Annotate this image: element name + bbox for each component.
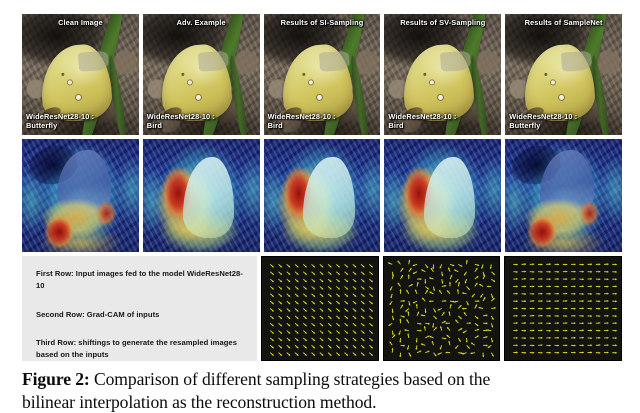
legend-row1-note: First Row: Input images fed to the model… — [36, 268, 247, 292]
quiver-panel-samplenet — [504, 256, 622, 361]
figure-page: 0 – , e – – e – s e – – – r e — [0, 0, 640, 413]
quiver-arrows-uniform — [262, 257, 378, 360]
gradcam-heatmap — [22, 139, 139, 252]
gradcam-panel-adv-example — [143, 139, 260, 252]
legend-notes-panel: First Row: Input images fed to the model… — [22, 256, 257, 361]
figure-caption-text: Comparison of different sampling strateg… — [90, 369, 491, 389]
gradcam-panel-samplenet — [505, 139, 622, 252]
wing-spot — [559, 95, 564, 100]
panel-header: Results of SampleNet — [505, 18, 622, 27]
wing-spot — [188, 81, 192, 85]
wing-spot — [61, 74, 64, 77]
gradcam-panel-clean-image — [22, 139, 139, 252]
input-panel-samplenet: Results of SampleNet WideResNet28-10 : B… — [505, 14, 622, 135]
wing-spot — [67, 81, 71, 85]
figure-caption-line2: bilinear interpolation as the reconstruc… — [22, 391, 634, 413]
legend-row3-note: Third Row: shiftings to generate the res… — [36, 337, 247, 361]
quiver-field — [262, 257, 378, 360]
wing-spot — [197, 95, 202, 100]
wing-spot — [430, 81, 434, 85]
gradcam-panel-sv-sampling — [384, 139, 501, 252]
model-label: WideResNet28-10 : — [509, 112, 620, 121]
quiver-arrows-horizontal — [505, 257, 621, 360]
gradcam-heatmap — [143, 139, 260, 252]
figure-grid: Clean Image WideResNet28-10 : Butterfly — [22, 14, 622, 364]
panel-prediction: WideResNet28-10 : Bird — [268, 112, 379, 131]
gradcam-heatmap — [384, 139, 501, 252]
panel-header: Results of SV-Sampling — [384, 18, 501, 27]
gradcam-heatmap — [505, 139, 622, 252]
panel-header: Adv. Example — [143, 18, 260, 27]
model-label: WideResNet28-10 : — [26, 112, 137, 121]
wing-spot — [303, 74, 306, 77]
wing-spot — [317, 95, 322, 100]
quiver-panel-si-sampling — [261, 256, 379, 361]
left-gutter-clipped-text: 0 – , e – – e – s e – – – r e — [0, 0, 20, 413]
prediction-label: Bird — [268, 121, 379, 130]
figure-row-gradcam — [22, 139, 622, 252]
model-label: WideResNet28-10 : — [147, 112, 258, 121]
model-label: WideResNet28-10 : — [268, 112, 379, 121]
panel-prediction: WideResNet28-10 : Butterfly — [509, 112, 620, 131]
panel-prediction: WideResNet28-10 : Bird — [388, 112, 499, 131]
quiver-panel-sv-sampling — [383, 256, 501, 361]
wing-spot — [76, 95, 81, 100]
prediction-label: Bird — [388, 121, 499, 130]
quiver-field — [384, 257, 500, 360]
wing-spot — [182, 74, 185, 77]
input-panel-clean-image: Clean Image WideResNet28-10 : Butterfly — [22, 14, 139, 135]
gradcam-hot-region — [505, 139, 622, 252]
figure-caption-label: Figure 2: — [22, 369, 90, 389]
panel-prediction: WideResNet28-10 : Butterfly — [26, 112, 137, 131]
prediction-label: Bird — [147, 121, 258, 130]
model-label: WideResNet28-10 : — [388, 112, 499, 121]
figure-row-inputs: Clean Image WideResNet28-10 : Butterfly — [22, 14, 622, 135]
wing-spot — [544, 74, 547, 77]
gradcam-heatmap — [264, 139, 381, 252]
gradcam-hot-region — [22, 139, 139, 252]
wing-spot — [550, 81, 554, 85]
legend-row2-note: Second Row: Grad-CAM of inputs — [36, 309, 247, 321]
gradcam-panel-si-sampling — [264, 139, 381, 252]
input-panel-si-sampling: Results of SI-Sampling WideResNet28-10 :… — [264, 14, 381, 135]
panel-header: Results of SI-Sampling — [264, 18, 381, 27]
prediction-label: Butterfly — [509, 121, 620, 130]
wing-spot — [438, 95, 443, 100]
figure-caption: Figure 2: Comparison of different sampli… — [22, 368, 634, 413]
quiver-field — [505, 257, 621, 360]
prediction-label: Butterfly — [26, 121, 137, 130]
panel-prediction: WideResNet28-10 : Bird — [147, 112, 258, 131]
figure-row-shiftings: First Row: Input images fed to the model… — [22, 256, 622, 361]
input-panel-sv-sampling: Results of SV-Sampling WideResNet28-10 :… — [384, 14, 501, 135]
input-panel-adv-example: Adv. Example WideResNet28-10 : Bird — [143, 14, 260, 135]
quiver-arrows-random — [384, 257, 500, 360]
wing-spot — [423, 74, 426, 77]
panel-header: Clean Image — [22, 18, 139, 27]
wing-spot — [309, 81, 313, 85]
